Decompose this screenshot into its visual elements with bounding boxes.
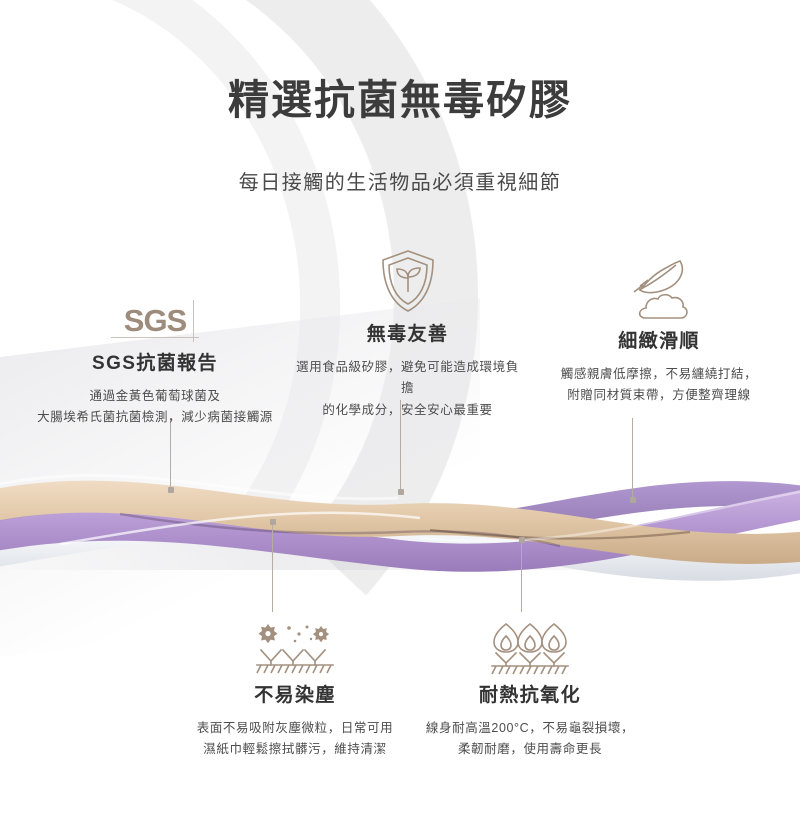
sgs-logo-rule-vertical [193, 300, 194, 342]
connector-dot [630, 497, 636, 503]
connector-dot [168, 487, 174, 493]
feature-description-line: 觸感親膚低摩擦，不易纏繞打結， [520, 364, 798, 386]
feature-description-line: 濕紙巾輕鬆擦拭髒污，維持清潔 [170, 739, 420, 761]
feature-description: 通過金黃色葡萄球菌及 大腸埃希氏菌抗菌檢測，減少病菌接觸源 [10, 386, 300, 429]
feature-description-line: 通過金黃色葡萄球菌及 [10, 386, 300, 408]
flame-surface-icon [400, 604, 660, 676]
feature-sgs: SGS SGS抗菌報告 通過金黃色葡萄球菌及 大腸埃希氏菌抗菌檢測，減少病菌接觸… [10, 272, 300, 429]
connector-line-heat [521, 540, 522, 612]
feature-description-line: 附贈同材質束帶，方便整齊理線 [520, 385, 798, 407]
feature-dust: 不易染塵 表面不易吸附灰塵微粒，日常可用 濕紙巾輕鬆擦拭髒污，維持清潔 [170, 604, 420, 761]
connector-dot [398, 489, 404, 495]
shield-leaf-icon [295, 243, 520, 315]
header-block: 精選抗菌無毒矽膠 每日接觸的生活物品必須重視細節 [0, 76, 800, 196]
feature-description-line: 大腸埃希氏菌抗菌檢測，減少病菌接觸源 [10, 407, 300, 429]
feature-title: 耐熱抗氧化 [400, 684, 660, 709]
feature-description: 選用食品級矽膠，避免可能造成環境負擔 的化學成分，安全安心最重要 [295, 357, 520, 422]
sgs-logo-rule-horizontal [111, 337, 199, 338]
page-title: 精選抗菌無毒矽膠 [0, 76, 800, 124]
dust-resistant-icon [170, 604, 420, 676]
feature-description: 表面不易吸附灰塵微粒，日常可用 濕紙巾輕鬆擦拭髒污，維持清潔 [170, 718, 420, 761]
feature-description: 觸感親膚低摩擦，不易纏繞打結， 附贈同材質束帶，方便整齊理線 [520, 364, 798, 407]
feature-description: 線身耐高溫200°C，不易龜裂損壞， 柔韌耐磨，使用壽命更長 [400, 718, 660, 761]
feature-description-line: 表面不易吸附灰塵微粒，日常可用 [170, 718, 420, 740]
infographic-page: 精選抗菌無毒矽膠 每日接觸的生活物品必須重視細節 [0, 0, 800, 834]
sgs-logo-icon: SGS [10, 272, 300, 344]
feature-description-line: 線身耐高溫200°C，不易龜裂損壞， [400, 718, 660, 740]
feather-cloud-icon [520, 250, 798, 322]
connector-line-dust [272, 522, 273, 612]
feature-title: 細緻滑順 [520, 330, 798, 355]
page-subtitle: 每日接觸的生活物品必須重視細節 [0, 124, 800, 196]
connector-line-sgs [170, 418, 171, 490]
connector-line-smooth [632, 418, 633, 500]
feature-nontoxic: 無毒友善 選用食品級矽膠，避免可能造成環境負擔 的化學成分，安全安心最重要 [295, 243, 520, 421]
connector-dot [270, 519, 276, 525]
feature-title: SGS抗菌報告 [10, 352, 300, 377]
feature-description-line: 選用食品級矽膠，避免可能造成環境負擔 [295, 357, 520, 400]
feature-title: 無毒友善 [295, 323, 520, 348]
feature-heat: 耐熱抗氧化 線身耐高溫200°C，不易龜裂損壞， 柔韌耐磨，使用壽命更長 [400, 604, 660, 761]
connector-dot [519, 537, 525, 543]
feature-description-line: 的化學成分，安全安心最重要 [295, 400, 520, 422]
sgs-logo-text: SGS [124, 303, 186, 338]
feature-smooth: 細緻滑順 觸感親膚低摩擦，不易纏繞打結， 附贈同材質束帶，方便整齊理線 [520, 250, 798, 407]
feature-description-line: 柔韌耐磨，使用壽命更長 [400, 739, 660, 761]
feature-title: 不易染塵 [170, 684, 420, 709]
